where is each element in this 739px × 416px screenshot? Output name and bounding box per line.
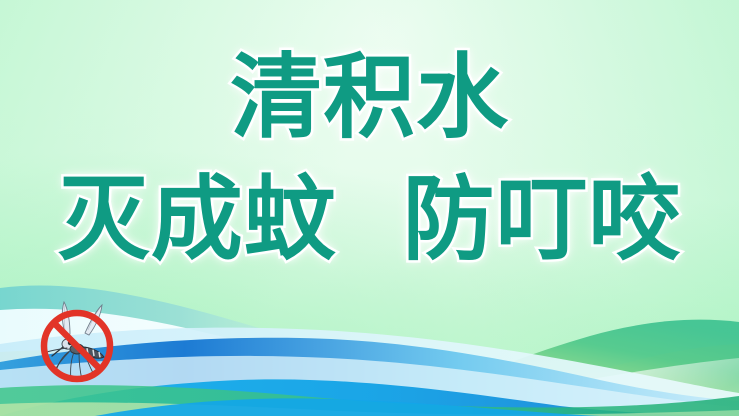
prohibition-sign	[44, 313, 110, 379]
no-mosquito-icon	[38, 300, 116, 386]
poster-canvas: 清积水 灭成蚊 防叮咬	[0, 0, 739, 416]
